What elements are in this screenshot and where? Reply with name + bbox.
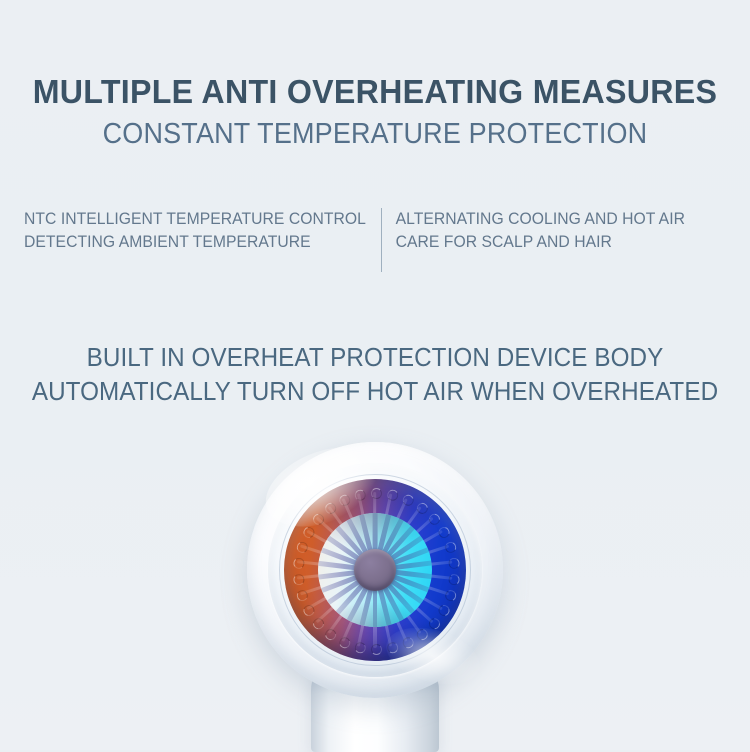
dryer-head-bezel (247, 442, 503, 698)
headings-block: MULTIPLE ANTI OVERHEATING MEASURES CONST… (0, 74, 750, 151)
feature-left-line-1: NTC INTELLIGENT TEMPERATURE CONTROL (24, 208, 370, 231)
feature-column-right: ALTERNATING COOLING AND HOT AIR CARE FOR… (382, 208, 685, 254)
feature-right-line-2: CARE FOR SCALP AND HAIR (396, 231, 685, 254)
marketing-banner: MULTIPLE ANTI OVERHEATING MEASURES CONST… (0, 0, 750, 750)
statement-line-1: BUILT IN OVERHEAT PROTECTION DEVICE BODY (19, 342, 732, 376)
page-title: MULTIPLE ANTI OVERHEATING MEASURES (15, 74, 735, 112)
feature-left-line-2: DETECTING AMBIENT TEMPERATURE (24, 231, 370, 254)
page-subtitle: CONSTANT TEMPERATURE PROTECTION (26, 118, 724, 151)
product-image (0, 430, 750, 750)
statement-line-2: AUTOMATICALLY TURN OFF HOT AIR WHEN OVER… (19, 376, 732, 410)
feature-columns: NTC INTELLIGENT TEMPERATURE CONTROL DETE… (24, 208, 726, 274)
feature-right-line-1: ALTERNATING COOLING AND HOT AIR (396, 208, 685, 231)
bezel-inner-ring (268, 463, 482, 677)
fan-center-hub (354, 549, 396, 591)
feature-column-left: NTC INTELLIGENT TEMPERATURE CONTROL DETE… (24, 208, 370, 254)
statement-block: BUILT IN OVERHEAT PROTECTION DEVICE BODY… (19, 342, 732, 409)
